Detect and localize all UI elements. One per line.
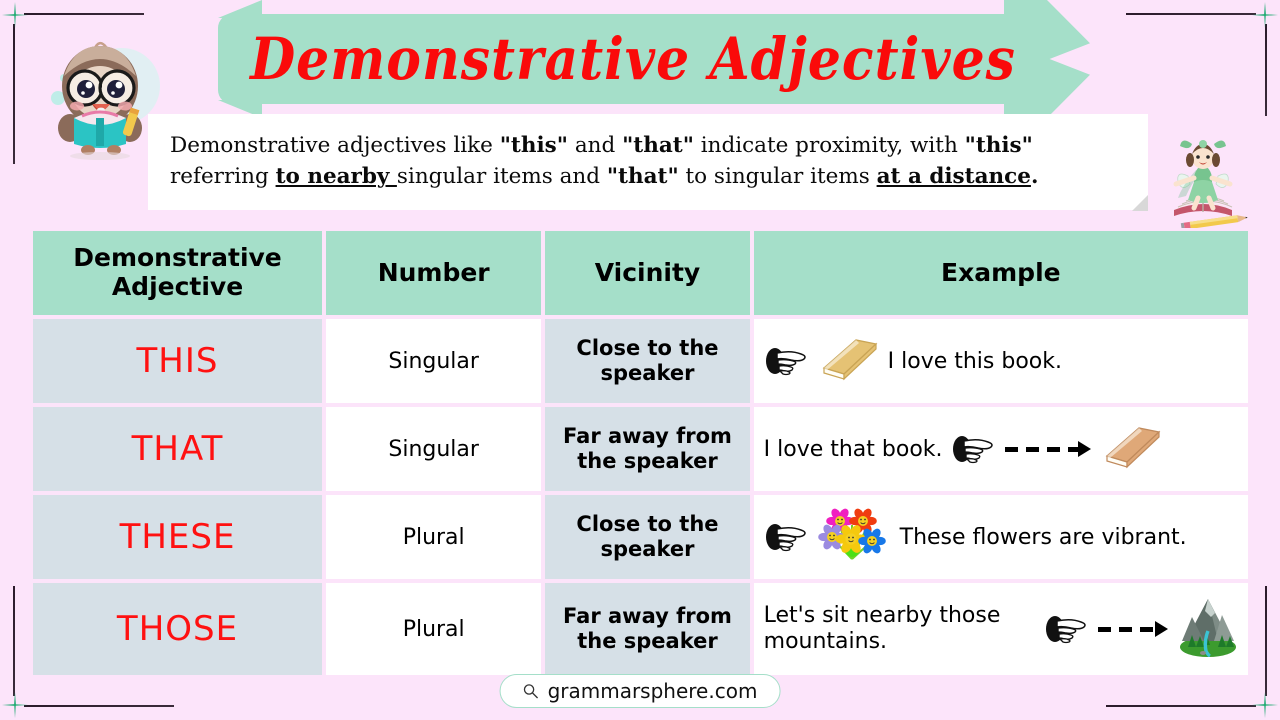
banner-body: Demonstrative Adjectives bbox=[218, 14, 1048, 104]
number-label: Singular bbox=[388, 349, 479, 374]
sparkle-icon bbox=[1252, 692, 1278, 718]
cell-vicinity: Far away from the speaker bbox=[545, 583, 749, 675]
corner-line-horizontal bbox=[1106, 705, 1256, 707]
cell-vicinity: Close to the speaker bbox=[545, 495, 749, 579]
book-orange-icon bbox=[1101, 422, 1163, 476]
book-gold-icon bbox=[818, 334, 880, 388]
example-text: These flowers are vibrant. bbox=[900, 525, 1187, 550]
page-title: Demonstrative Adjectives bbox=[250, 25, 1016, 93]
example-content: These flowers are vibrant. bbox=[754, 503, 1248, 571]
description-segment: to nearby bbox=[276, 164, 397, 189]
cell-example: I love this book. bbox=[754, 319, 1248, 403]
adjective-label: THESE bbox=[120, 517, 236, 557]
cell-number: Plural bbox=[326, 583, 541, 675]
description-segment: and bbox=[568, 133, 622, 158]
example-text: I love that book. bbox=[764, 437, 943, 462]
description-segment: "that" bbox=[607, 164, 679, 189]
description-segment: Demonstrative adjectives like bbox=[170, 133, 500, 158]
dashed-arrow-icon bbox=[1005, 444, 1093, 454]
description-segment: referring bbox=[170, 164, 276, 189]
vicinity-label: Close to the speaker bbox=[545, 512, 749, 562]
sparkle-icon bbox=[2, 692, 28, 718]
fairy-on-book-icon bbox=[1152, 128, 1260, 228]
cell-example: These flowers are vibrant. bbox=[754, 495, 1248, 579]
vicinity-label: Far away from the speaker bbox=[545, 604, 749, 654]
table-row: THISSingularClose to the speaker I love … bbox=[33, 319, 1248, 403]
corner-line-vertical bbox=[1265, 586, 1267, 696]
description-segment: indicate proximity, with bbox=[694, 133, 965, 158]
adjective-label: THIS bbox=[137, 341, 219, 381]
corner-line-vertical bbox=[13, 586, 15, 696]
corner-line-horizontal bbox=[24, 13, 144, 15]
table-row: THATSingularFar away from the speaker I … bbox=[33, 407, 1248, 491]
cell-adjective: THOSE bbox=[33, 583, 322, 675]
example-content: I love this book. bbox=[754, 334, 1248, 388]
vicinity-label: Far away from the speaker bbox=[545, 424, 749, 474]
description-segment: "this" bbox=[965, 133, 1033, 158]
number-label: Singular bbox=[388, 437, 479, 462]
search-icon bbox=[523, 683, 539, 699]
description-segment: to singular items bbox=[679, 164, 877, 189]
corner-line-horizontal bbox=[24, 705, 174, 707]
mountains-icon bbox=[1178, 595, 1238, 663]
number-label: Plural bbox=[403, 617, 465, 642]
header-demonstrative-adjective: Demonstrative Adjective bbox=[33, 231, 322, 315]
description-segment: . bbox=[1031, 164, 1039, 189]
cell-adjective: THESE bbox=[33, 495, 322, 579]
vicinity-label: Close to the speaker bbox=[545, 336, 749, 386]
description-segment: "that" bbox=[622, 133, 694, 158]
description-segment: singular items and bbox=[397, 164, 607, 189]
pointing-hand-icon bbox=[1044, 612, 1090, 646]
pointing-hand-icon bbox=[951, 432, 997, 466]
cell-number: Singular bbox=[326, 319, 541, 403]
example-text: I love this book. bbox=[888, 349, 1062, 374]
infographic-page: Demonstrative Adjectives Demonstrative a… bbox=[0, 0, 1280, 720]
header-vicinity: Vicinity bbox=[545, 231, 749, 315]
cell-example: I love that book. bbox=[754, 407, 1248, 491]
sparkle-icon bbox=[1252, 2, 1278, 28]
adjective-label: THAT bbox=[132, 429, 224, 469]
site-badge[interactable]: grammarsphere.com bbox=[500, 674, 781, 708]
pointing-hand-icon bbox=[764, 344, 810, 378]
cell-adjective: THIS bbox=[33, 319, 322, 403]
cell-vicinity: Far away from the speaker bbox=[545, 407, 749, 491]
adjective-label: THOSE bbox=[117, 609, 238, 649]
sparkle-icon bbox=[2, 2, 28, 28]
table-body: THISSingularClose to the speaker I love … bbox=[33, 319, 1248, 675]
dashed-arrow-icon bbox=[1098, 624, 1170, 634]
cell-number: Singular bbox=[326, 407, 541, 491]
description-text: Demonstrative adjectives like "this" and… bbox=[170, 130, 1126, 193]
cell-example: Let's sit nearby those mountains. bbox=[754, 583, 1248, 675]
site-url: grammarsphere.com bbox=[548, 679, 758, 703]
cell-adjective: THAT bbox=[33, 407, 322, 491]
description-box: Demonstrative adjectives like "this" and… bbox=[148, 114, 1148, 210]
cell-vicinity: Close to the speaker bbox=[545, 319, 749, 403]
example-content: Let's sit nearby those mountains. bbox=[754, 595, 1248, 663]
pointing-hand-icon bbox=[764, 520, 810, 554]
header-example: Example bbox=[754, 231, 1248, 315]
example-content: I love that book. bbox=[754, 422, 1248, 476]
title-banner: Demonstrative Adjectives bbox=[218, 0, 1048, 118]
table-header-row: Demonstrative Adjective Number Vicinity … bbox=[33, 231, 1248, 315]
corner-line-vertical bbox=[1265, 24, 1267, 116]
description-segment: at a distance bbox=[877, 164, 1031, 189]
cell-number: Plural bbox=[326, 495, 541, 579]
number-label: Plural bbox=[403, 525, 465, 550]
flowers-icon bbox=[818, 503, 892, 571]
header-number: Number bbox=[326, 231, 541, 315]
table-row: THESEPluralClose to the speaker These fl… bbox=[33, 495, 1248, 579]
corner-line-horizontal bbox=[1126, 13, 1256, 15]
description-segment: "this" bbox=[500, 133, 568, 158]
table-row: THOSEPluralFar away from the speaker Let… bbox=[33, 583, 1248, 675]
example-text: Let's sit nearby those mountains. bbox=[764, 603, 1036, 656]
demonstrative-adjectives-table: Demonstrative Adjective Number Vicinity … bbox=[33, 231, 1248, 679]
corner-line-vertical bbox=[13, 24, 15, 164]
